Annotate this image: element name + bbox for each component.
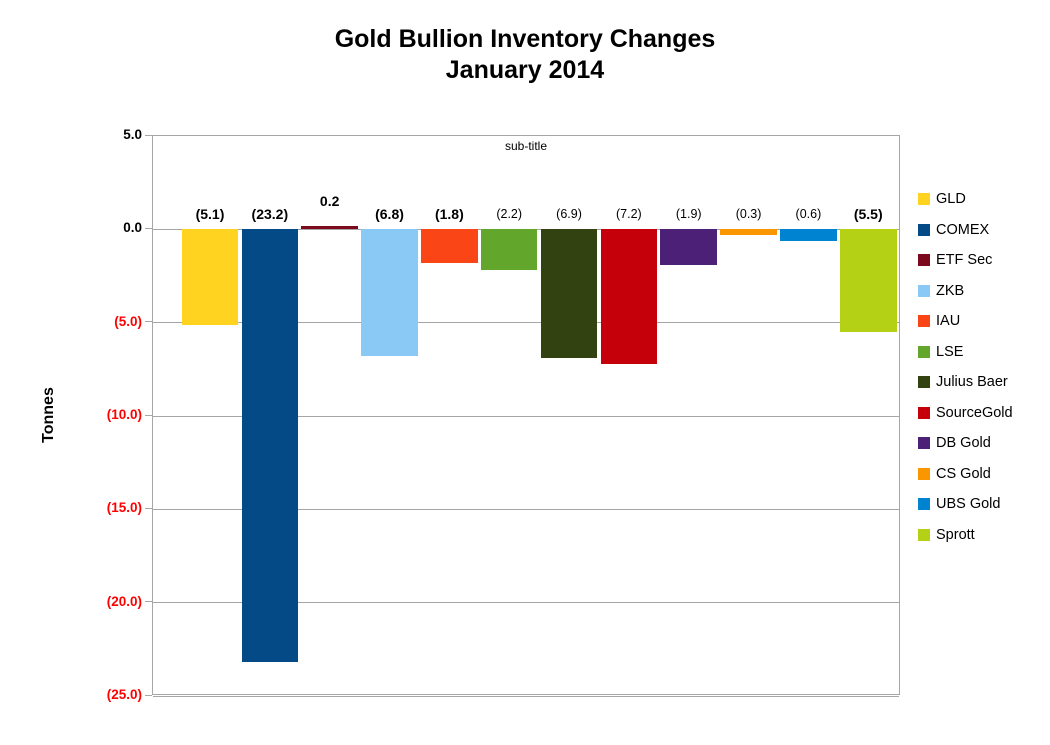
bar-value-label: 0.2 [301, 194, 358, 208]
bar-value-label: (1.8) [421, 207, 478, 221]
plot-area: sub-title (5.1)(23.2)0.2(6.8)(1.8)(2.2)(… [152, 135, 900, 695]
bar[interactable] [840, 229, 897, 332]
y-axis-tick-mark [145, 508, 152, 509]
bar[interactable] [242, 229, 299, 662]
legend-item-label: COMEX [936, 222, 989, 238]
legend-item[interactable]: Julius Baer [918, 367, 1048, 398]
legend-swatch-icon [918, 315, 930, 327]
y-axis-tick-label: 5.0 [80, 128, 142, 141]
legend-item-label: ZKB [936, 283, 964, 299]
legend-swatch-icon [918, 346, 930, 358]
bar[interactable] [361, 229, 418, 356]
legend-swatch-icon [918, 407, 930, 419]
legend-swatch-icon [918, 224, 930, 236]
legend-swatch-icon [918, 468, 930, 480]
bar[interactable] [720, 229, 777, 235]
legend-swatch-icon [918, 437, 930, 449]
legend-swatch-icon [918, 285, 930, 297]
y-axis-tick-mark [145, 695, 152, 696]
bar[interactable] [780, 229, 837, 240]
legend-item-label: GLD [936, 191, 966, 207]
bar-value-label: (0.6) [780, 207, 837, 221]
legend-item[interactable]: Sprott [918, 520, 1048, 551]
y-axis-tick-label: (5.0) [80, 315, 142, 328]
legend-swatch-icon [918, 498, 930, 510]
legend-item-label: DB Gold [936, 435, 991, 451]
y-axis-tick-mark [145, 601, 152, 602]
legend-swatch-icon [918, 254, 930, 266]
legend-item-label: IAU [936, 313, 960, 329]
legend-item[interactable]: LSE [918, 337, 1048, 368]
legend-item-label: SourceGold [936, 405, 1013, 421]
y-axis-tick-mark [145, 228, 152, 229]
legend-item[interactable]: UBS Gold [918, 489, 1048, 520]
y-axis-tick-label: (25.0) [80, 688, 142, 701]
bar-value-label: (5.1) [182, 207, 239, 221]
legend-item[interactable]: CS Gold [918, 459, 1048, 490]
legend-item[interactable]: SourceGold [918, 398, 1048, 429]
legend: GLDCOMEXETF SecZKBIAULSEJulius BaerSourc… [918, 184, 1048, 550]
bar[interactable] [182, 229, 239, 324]
legend-item-label: ETF Sec [936, 252, 992, 268]
gridline [153, 696, 899, 697]
bar[interactable] [301, 226, 358, 230]
legend-swatch-icon [918, 529, 930, 541]
bar[interactable] [601, 229, 658, 363]
bar-value-label: (0.3) [720, 207, 777, 221]
y-axis-tick-label: 0.0 [80, 221, 142, 234]
legend-item-label: LSE [936, 344, 963, 360]
y-axis-tick-label: (15.0) [80, 501, 142, 514]
legend-item[interactable]: IAU [918, 306, 1048, 337]
legend-item[interactable]: DB Gold [918, 428, 1048, 459]
bar[interactable] [421, 229, 478, 263]
bar-value-label: (1.9) [660, 207, 717, 221]
chart-title-line1: Gold Bullion Inventory Changes [335, 25, 716, 53]
chart-subtitle: sub-title [153, 135, 899, 157]
bar[interactable] [541, 229, 598, 358]
y-axis-tick-mark [145, 135, 152, 136]
legend-swatch-icon [918, 193, 930, 205]
y-axis-tick-mark [145, 415, 152, 416]
bar-value-label: (6.8) [361, 207, 418, 221]
bar-value-label: (23.2) [242, 207, 299, 221]
bar-value-label: (6.9) [541, 207, 598, 221]
legend-item-label: Julius Baer [936, 374, 1008, 390]
chart-title: Gold Bullion Inventory Changes January 2… [120, 24, 930, 86]
y-axis-title: Tonnes [40, 355, 58, 475]
legend-item-label: Sprott [936, 527, 975, 543]
bar[interactable] [660, 229, 717, 264]
bar-value-label: (2.2) [481, 207, 538, 221]
y-axis-tick-mark [145, 321, 152, 322]
legend-item-label: UBS Gold [936, 496, 1000, 512]
bar-value-label: (7.2) [601, 207, 658, 221]
chart-container: Gold Bullion Inventory Changes January 2… [0, 0, 1050, 745]
legend-swatch-icon [918, 376, 930, 388]
legend-item[interactable]: COMEX [918, 215, 1048, 246]
y-axis-tick-label: (20.0) [80, 595, 142, 608]
chart-title-line2: January 2014 [120, 55, 930, 86]
legend-item[interactable]: GLD [918, 184, 1048, 215]
bar[interactable] [481, 229, 538, 270]
bar-value-label: (5.5) [840, 207, 897, 221]
legend-item[interactable]: ZKB [918, 276, 1048, 307]
y-axis-tick-label: (10.0) [80, 408, 142, 421]
legend-item-label: CS Gold [936, 466, 991, 482]
legend-item[interactable]: ETF Sec [918, 245, 1048, 276]
